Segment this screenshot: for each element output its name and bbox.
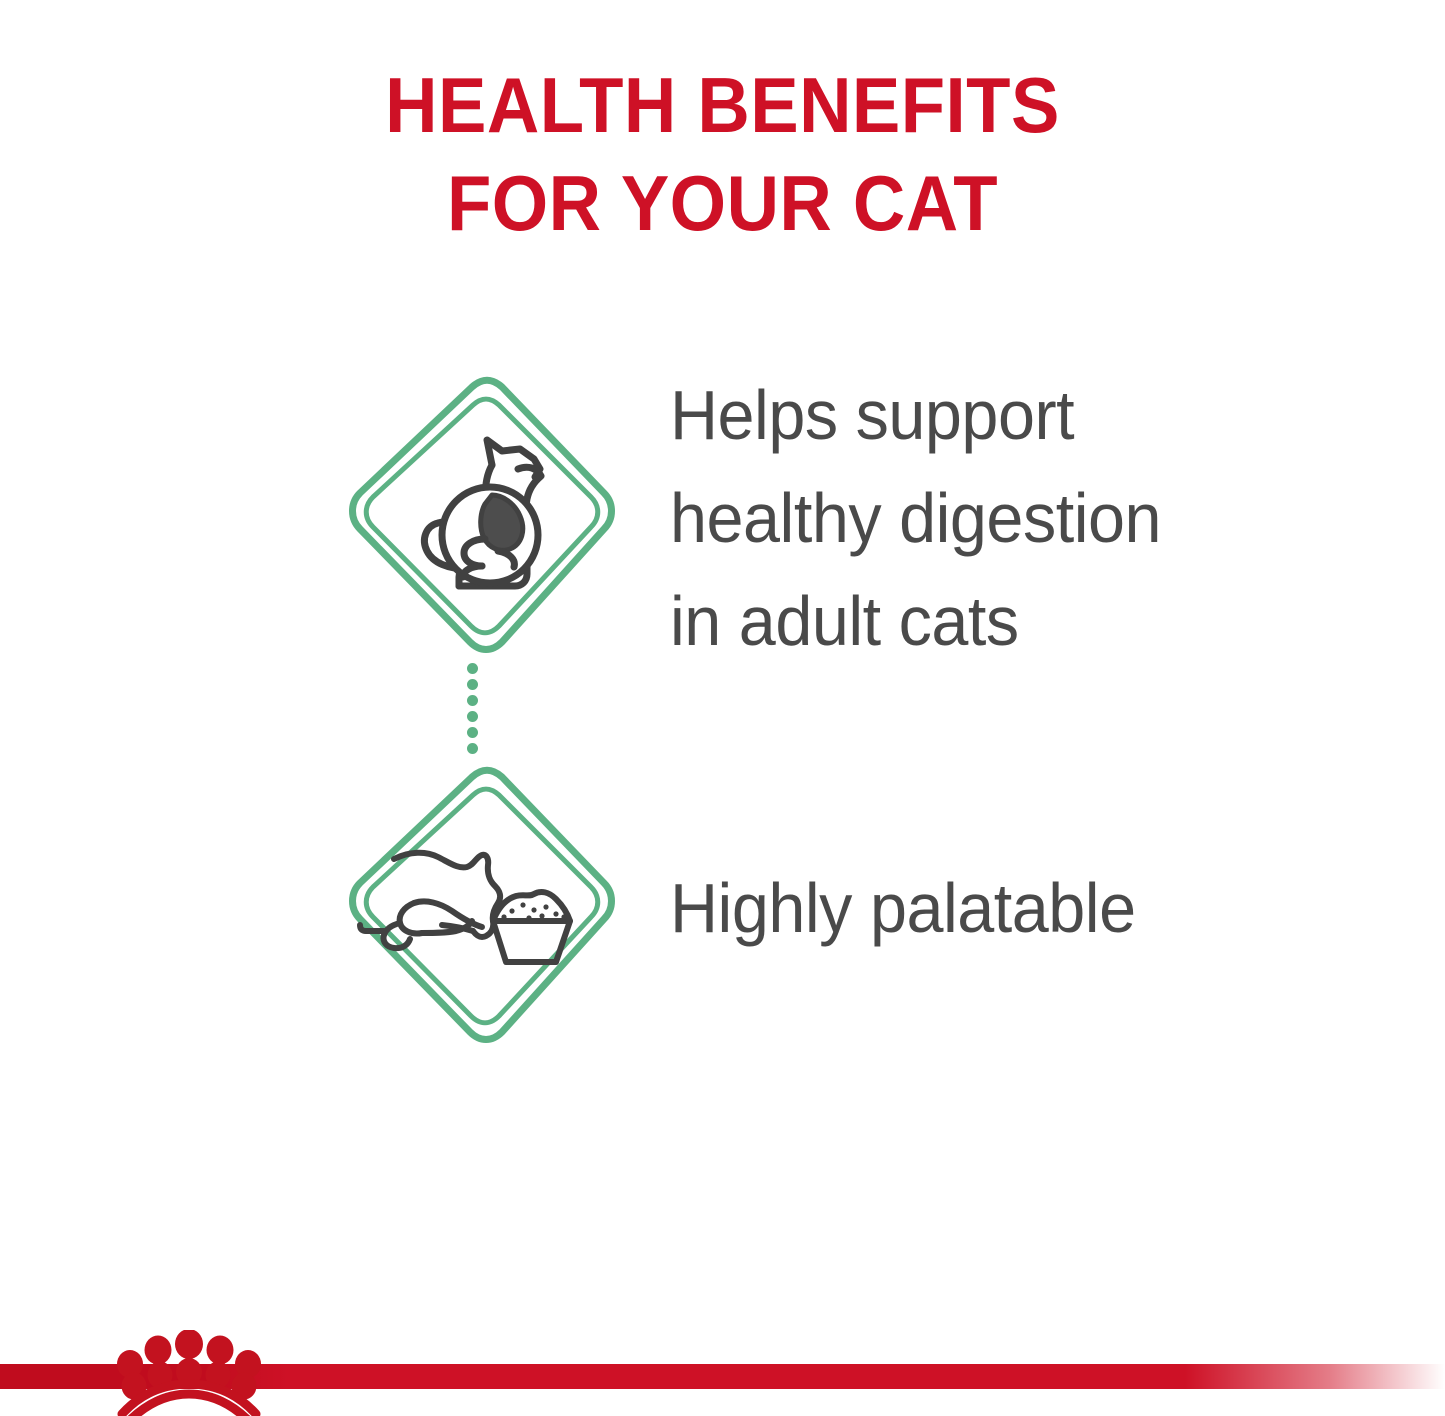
connector-dot — [467, 679, 478, 690]
connector-dot — [467, 663, 478, 674]
dotted-connector — [463, 663, 481, 755]
connector-dot — [467, 711, 478, 722]
poster-canvas: HEALTH BENEFITSFOR YOUR CAT — [0, 0, 1445, 1416]
benefit-text-digestion: Helps support healthy digestion in adult… — [670, 364, 1406, 673]
page-title-line-1: HEALTH BENEFITS — [385, 61, 1060, 149]
connector-dot — [467, 743, 478, 754]
cat-eating-bowl-icon — [330, 763, 630, 1053]
cat-digestion-icon — [330, 373, 630, 663]
benefit-text-palatable: Highly palatable — [670, 857, 1406, 960]
page-title: HEALTH BENEFITSFOR YOUR CAT — [51, 56, 1395, 252]
connector-dot — [467, 727, 478, 738]
benefit-row-palatable: Highly palatable — [0, 763, 1445, 1053]
connector-dot — [467, 695, 478, 706]
royal-canin-crown-logo — [104, 1330, 274, 1416]
page-title-line-2: FOR YOUR CAT — [51, 154, 1395, 252]
benefit-row-digestion: Helps support healthy digestion in adult… — [0, 373, 1445, 663]
